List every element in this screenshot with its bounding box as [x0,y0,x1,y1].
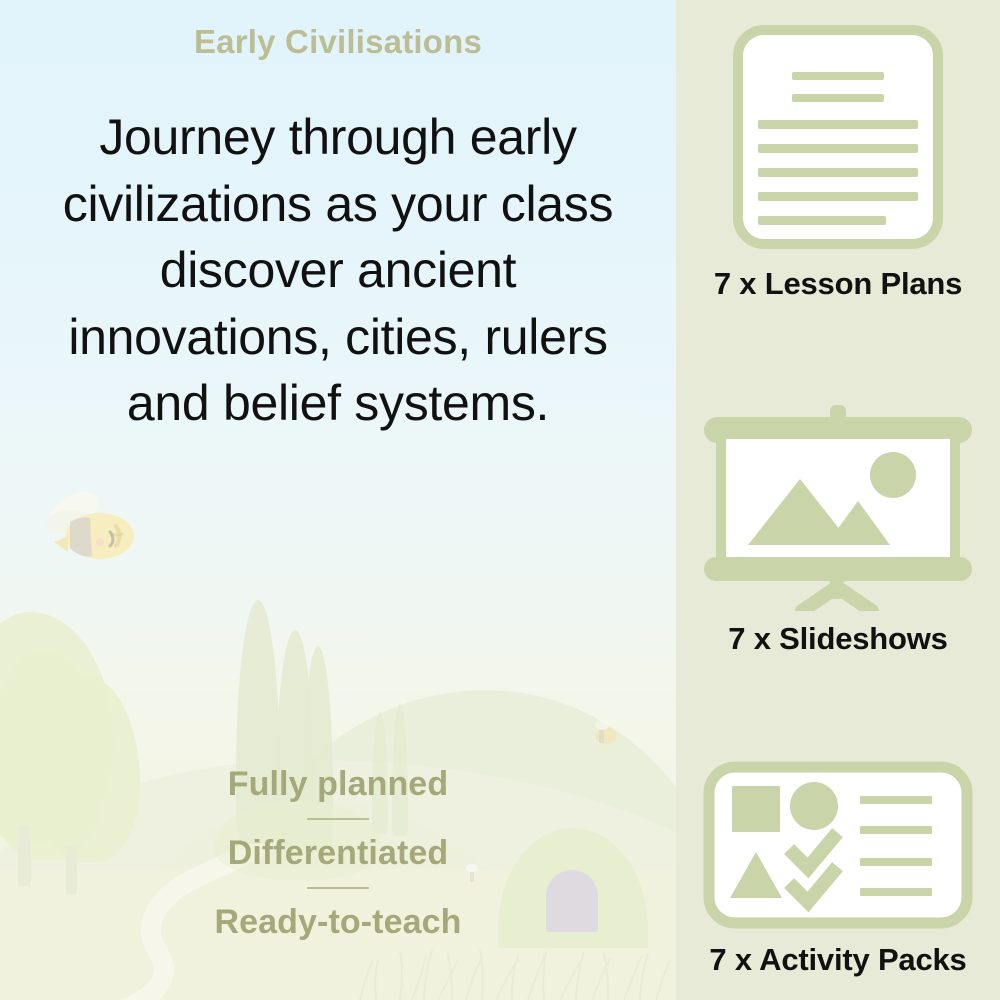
resource-label-activity-packs: 7 x Activity Packs [709,942,966,978]
feature-item-differentiated: Differentiated [228,834,449,873]
resource-item-lesson-plans[interactable]: 7 x Lesson Plans [676,22,1000,302]
feature-item-ready-to-teach: Ready-to-teach [214,903,461,942]
resource-item-activity-packs[interactable]: 7 x Activity Packs [676,760,1000,978]
headline-description: Journey through early civilizations as y… [53,104,623,437]
feature-divider [307,887,369,889]
left-panel: Early Civilisations Journey through earl… [0,0,676,1000]
feature-divider [307,818,369,820]
left-content: Early Civilisations Journey through earl… [0,0,676,1000]
page-title: Early Civilisations [194,24,482,60]
document-lines-icon [730,22,946,252]
resource-item-slideshows[interactable]: 7 x Slideshows [676,405,1000,657]
product-promo-card: Early Civilisations Journey through earl… [0,0,1000,1000]
projector-screen-icon [696,405,980,611]
feature-list: Fully planned Differentiated Ready-to-te… [214,765,461,942]
activity-card-icon [702,760,974,930]
resources-panel: 7 x Lesson Plans [676,0,1000,1000]
resource-label-slideshows: 7 x Slideshows [728,621,947,657]
feature-item-fully-planned: Fully planned [228,765,448,804]
resource-label-lesson-plans: 7 x Lesson Plans [714,266,962,302]
